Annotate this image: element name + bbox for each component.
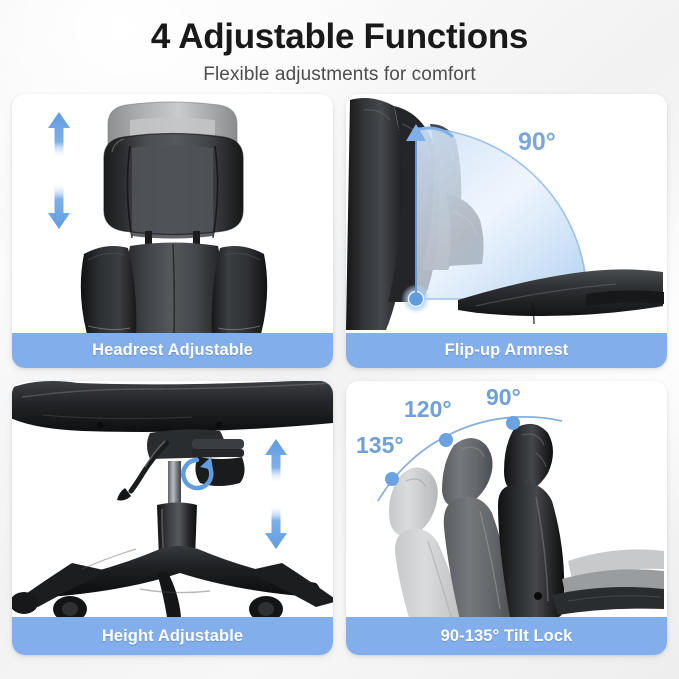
- backrest-shape: [81, 243, 267, 334]
- arc-dot-icon: [385, 472, 399, 486]
- angle-wedge-90: [416, 128, 587, 299]
- feature-card-armrest[interactable]: 90° Flip-up Armrest: [346, 94, 667, 368]
- page-title: 4 Adjustable Functions: [0, 0, 679, 57]
- angle-label-90: 90°: [518, 128, 556, 156]
- headrest-illustration: [12, 94, 333, 333]
- arrow-up-icon: [265, 439, 287, 483]
- seat-underside: [12, 381, 333, 432]
- infographic-page: 4 Adjustable Functions Flexible adjustme…: [0, 0, 679, 679]
- feature-card-headrest[interactable]: Headrest Adjustable: [12, 94, 333, 368]
- feature-card-tilt[interactable]: 135° 120° 90° 90-135° Tilt Lock: [346, 381, 667, 655]
- arrow-up-icon: [48, 112, 70, 158]
- arc-dot-icon: [439, 433, 453, 447]
- tilt-illustration: 135° 120° 90°: [346, 381, 667, 617]
- arrow-down-icon: [265, 505, 287, 549]
- card-label-tilt: 90-135° Tilt Lock: [346, 617, 667, 655]
- arrow-down-icon: [48, 183, 70, 229]
- tilt-seat-pads: [552, 549, 664, 615]
- angle-label-120: 120°: [404, 396, 452, 422]
- feature-card-grid: Headrest Adjustable: [12, 94, 667, 668]
- chair-base: [12, 546, 333, 617]
- angle-label-135: 135°: [356, 432, 404, 458]
- height-illustration: [12, 381, 333, 617]
- gas-cylinder: [157, 461, 197, 561]
- feature-card-height[interactable]: Height Adjustable: [12, 381, 333, 655]
- angle-label-90: 90°: [486, 384, 521, 410]
- headrest-main-shape: [104, 134, 243, 239]
- card-label-headrest: Headrest Adjustable: [12, 333, 333, 368]
- card-label-height: Height Adjustable: [12, 617, 333, 655]
- arc-dot-icon: [506, 416, 520, 430]
- page-subtitle: Flexible adjustments for comfort: [0, 57, 679, 86]
- armrest-illustration: 90°: [346, 94, 667, 333]
- tilt-position-90: [498, 424, 564, 617]
- header: 4 Adjustable Functions Flexible adjustme…: [0, 0, 679, 86]
- card-label-armrest: Flip-up Armrest: [346, 333, 667, 368]
